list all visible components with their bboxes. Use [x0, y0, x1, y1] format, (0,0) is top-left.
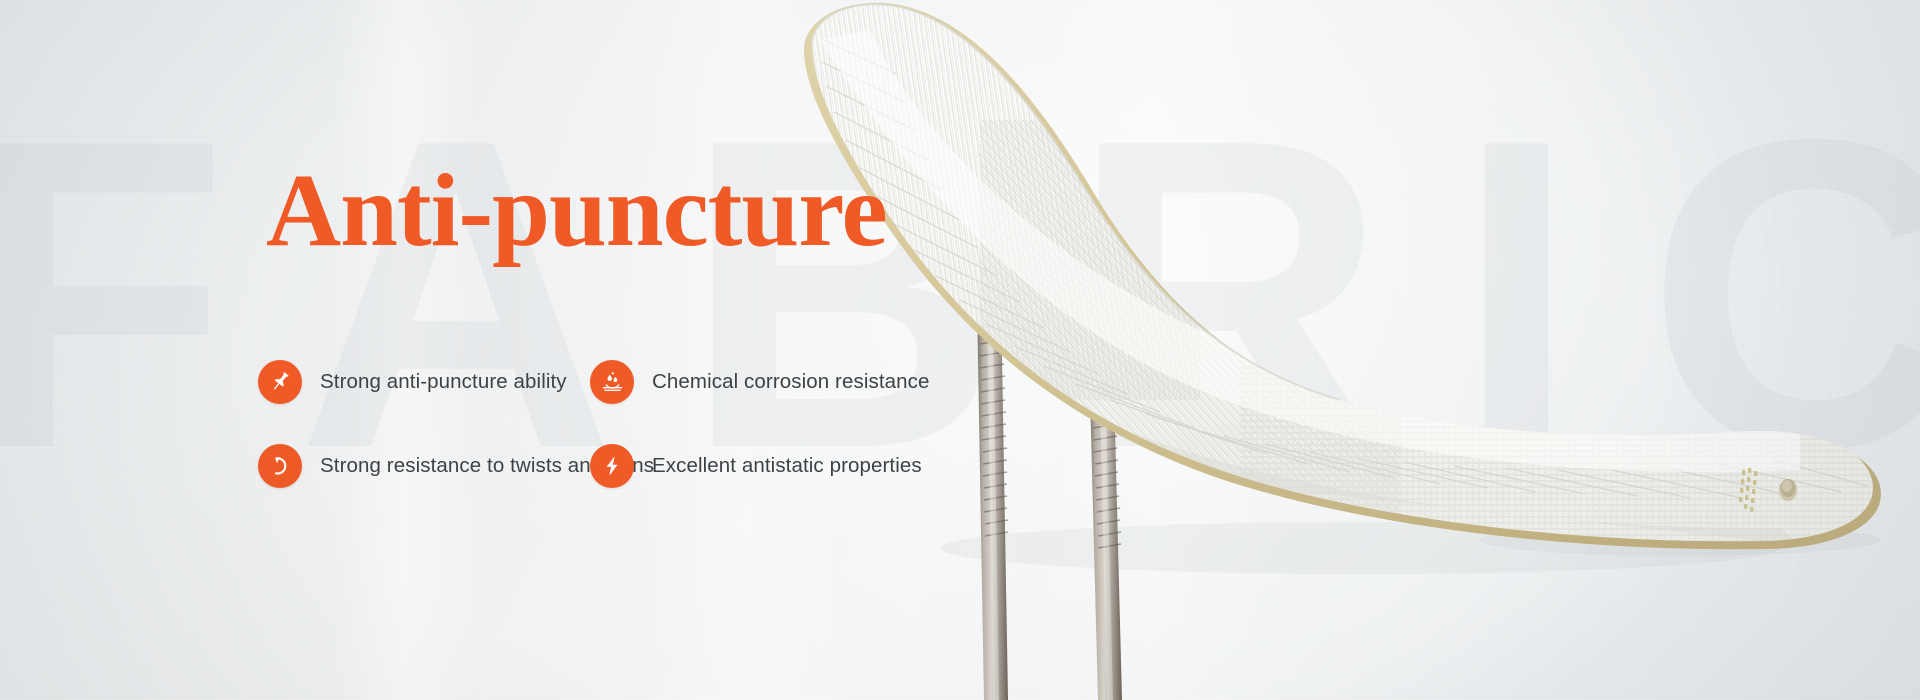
anti-puncture-banner: F A B R I C [0, 0, 1920, 700]
banner-content: Anti-puncture Strong anti-puncture abili… [0, 0, 1100, 700]
feature-item-chemical-corrosion[interactable]: Chemical corrosion resistance [590, 340, 922, 424]
rotate-icon [258, 444, 302, 488]
feature-list: Strong anti-puncture ability [258, 340, 1058, 508]
feature-label: Chemical corrosion resistance [652, 369, 929, 395]
feature-item-anti-puncture[interactable]: Strong anti-puncture ability [258, 340, 590, 424]
feature-label: Excellent antistatic properties [652, 453, 922, 479]
pushpin-icon [258, 360, 302, 404]
watermark-letter-r: R [1069, 75, 1393, 515]
droplets-icon [590, 360, 634, 404]
feature-label: Strong anti-puncture ability [320, 369, 567, 395]
feature-item-twist-resistance[interactable]: Strong resistance to twists and turns [258, 424, 590, 508]
lightning-icon [590, 444, 634, 488]
watermark-letter-c: C [1646, 75, 1920, 515]
feature-item-antistatic[interactable]: Excellent antistatic properties [590, 424, 922, 508]
insole-tip-marking [1739, 468, 1797, 512]
watermark-letter-i: I [1456, 75, 1584, 515]
page-title: Anti-puncture [266, 156, 887, 266]
